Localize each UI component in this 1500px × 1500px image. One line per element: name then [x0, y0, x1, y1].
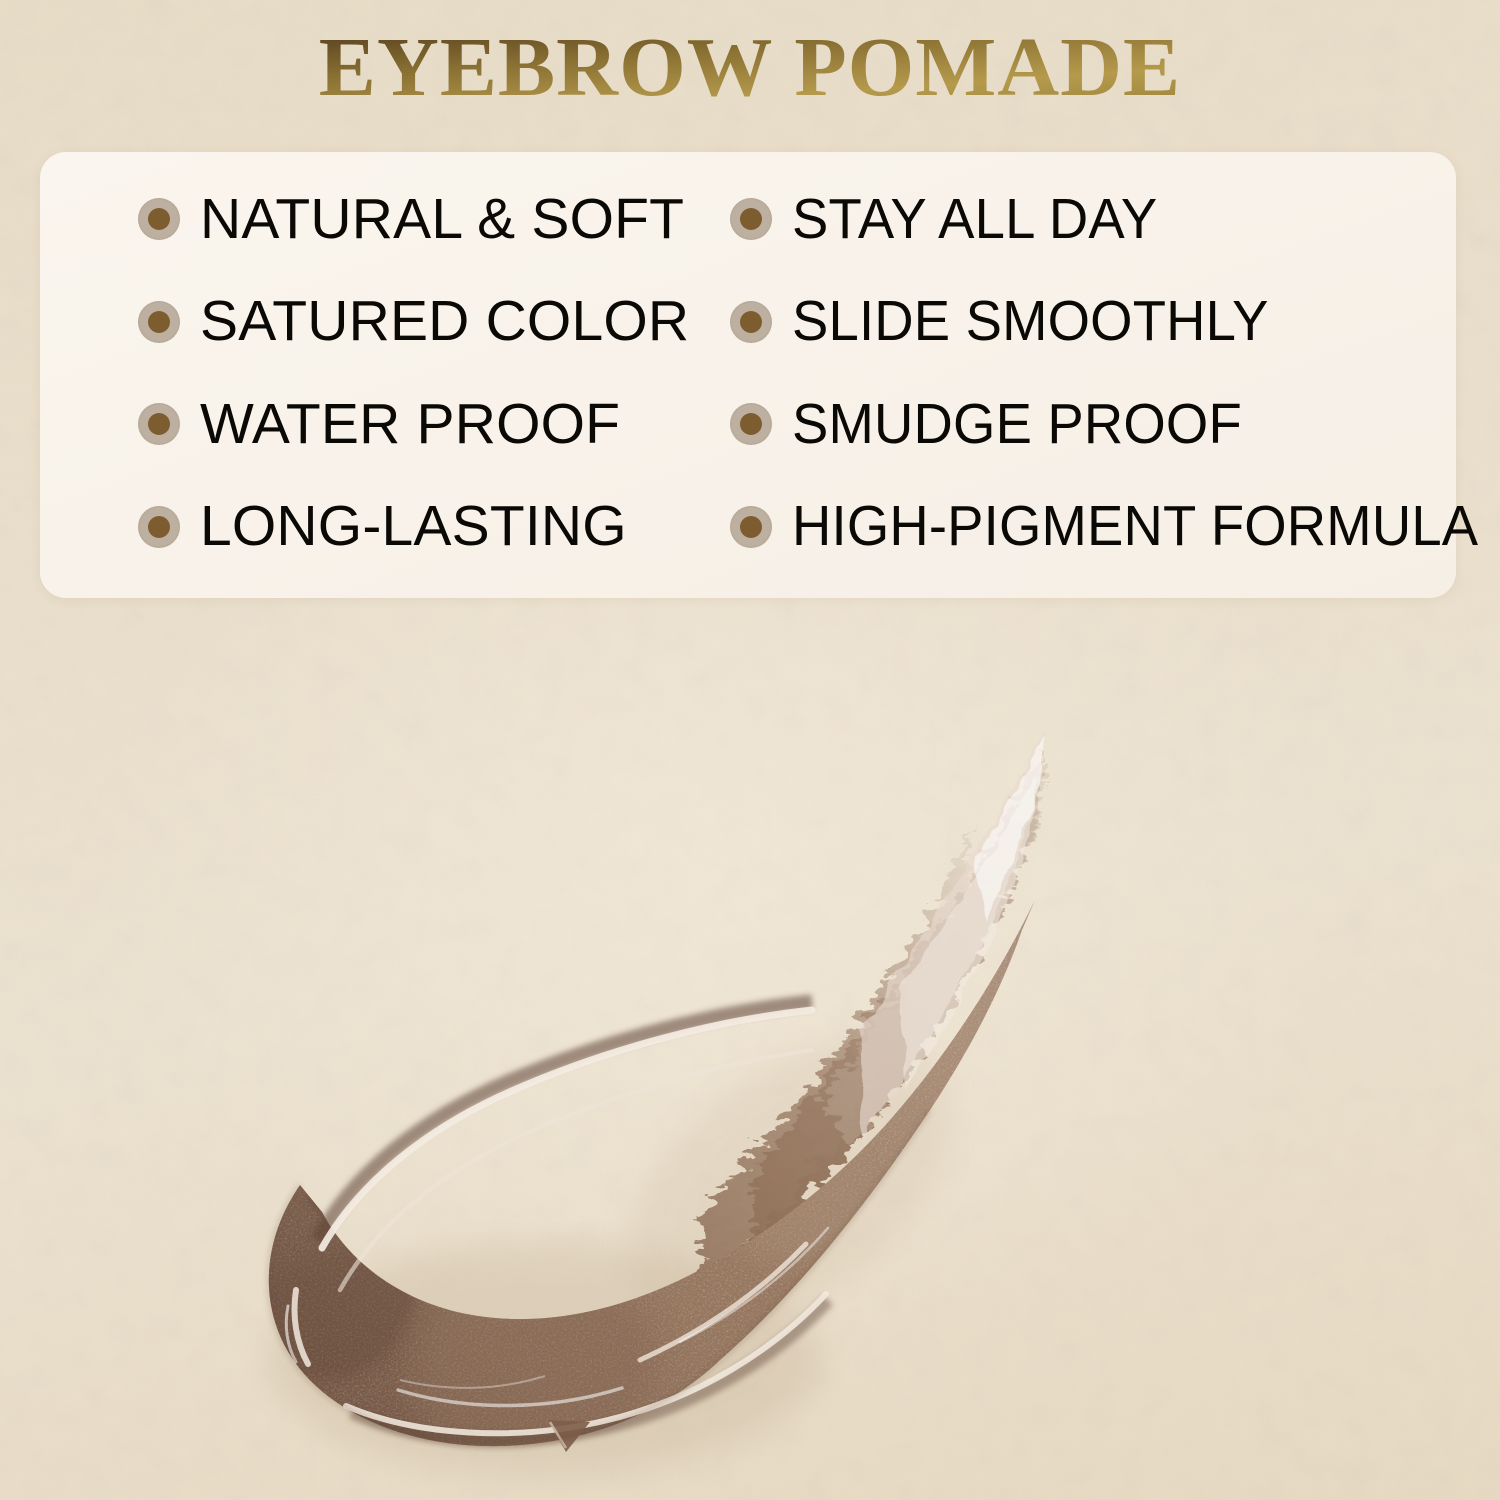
feature-label: SLIDE SMOOTHLY — [792, 293, 1269, 350]
feature-label: NATURAL & SOFT — [200, 191, 684, 248]
feature-card: NATURAL & SOFT SATURED COLOR WATER PROOF… — [40, 152, 1456, 598]
feature-item-high-pigment-formula: HIGH-PIGMENT FORMULA — [730, 498, 1500, 555]
feature-list: NATURAL & SOFT SATURED COLOR WATER PROOF… — [40, 152, 1456, 598]
filled-circle-icon — [730, 198, 772, 240]
page-title: EYEBROW POMADE — [0, 26, 1500, 110]
pomade-smear-swatch — [0, 600, 1500, 1500]
filled-circle-icon — [138, 403, 180, 445]
feature-label: WATER PROOF — [200, 396, 620, 453]
feature-item-water-proof: WATER PROOF — [138, 396, 730, 453]
filled-circle-icon — [730, 301, 772, 343]
feature-item-satured-color: SATURED COLOR — [138, 293, 730, 350]
feature-item-smudge-proof: SMUDGE PROOF — [730, 396, 1500, 453]
filled-circle-icon — [138, 198, 180, 240]
filled-circle-icon — [138, 506, 180, 548]
product-swatch-area — [0, 600, 1500, 1500]
feature-label: HIGH-PIGMENT FORMULA — [792, 498, 1478, 555]
filled-circle-icon — [138, 301, 180, 343]
feature-label: LONG-LASTING — [200, 498, 627, 555]
filled-circle-icon — [730, 403, 772, 445]
feature-label: SMUDGE PROOF — [792, 396, 1242, 453]
feature-item-slide-smoothly: SLIDE SMOOTHLY — [730, 293, 1500, 350]
swatch-tail-highlight — [860, 730, 1050, 1140]
filled-circle-icon — [730, 506, 772, 548]
feature-item-natural-soft: NATURAL & SOFT — [138, 191, 730, 248]
feature-item-long-lasting: LONG-LASTING — [138, 498, 730, 555]
feature-item-stay-all-day: STAY ALL DAY — [730, 191, 1500, 248]
feature-label: STAY ALL DAY — [792, 191, 1157, 248]
feature-label: SATURED COLOR — [200, 293, 689, 350]
